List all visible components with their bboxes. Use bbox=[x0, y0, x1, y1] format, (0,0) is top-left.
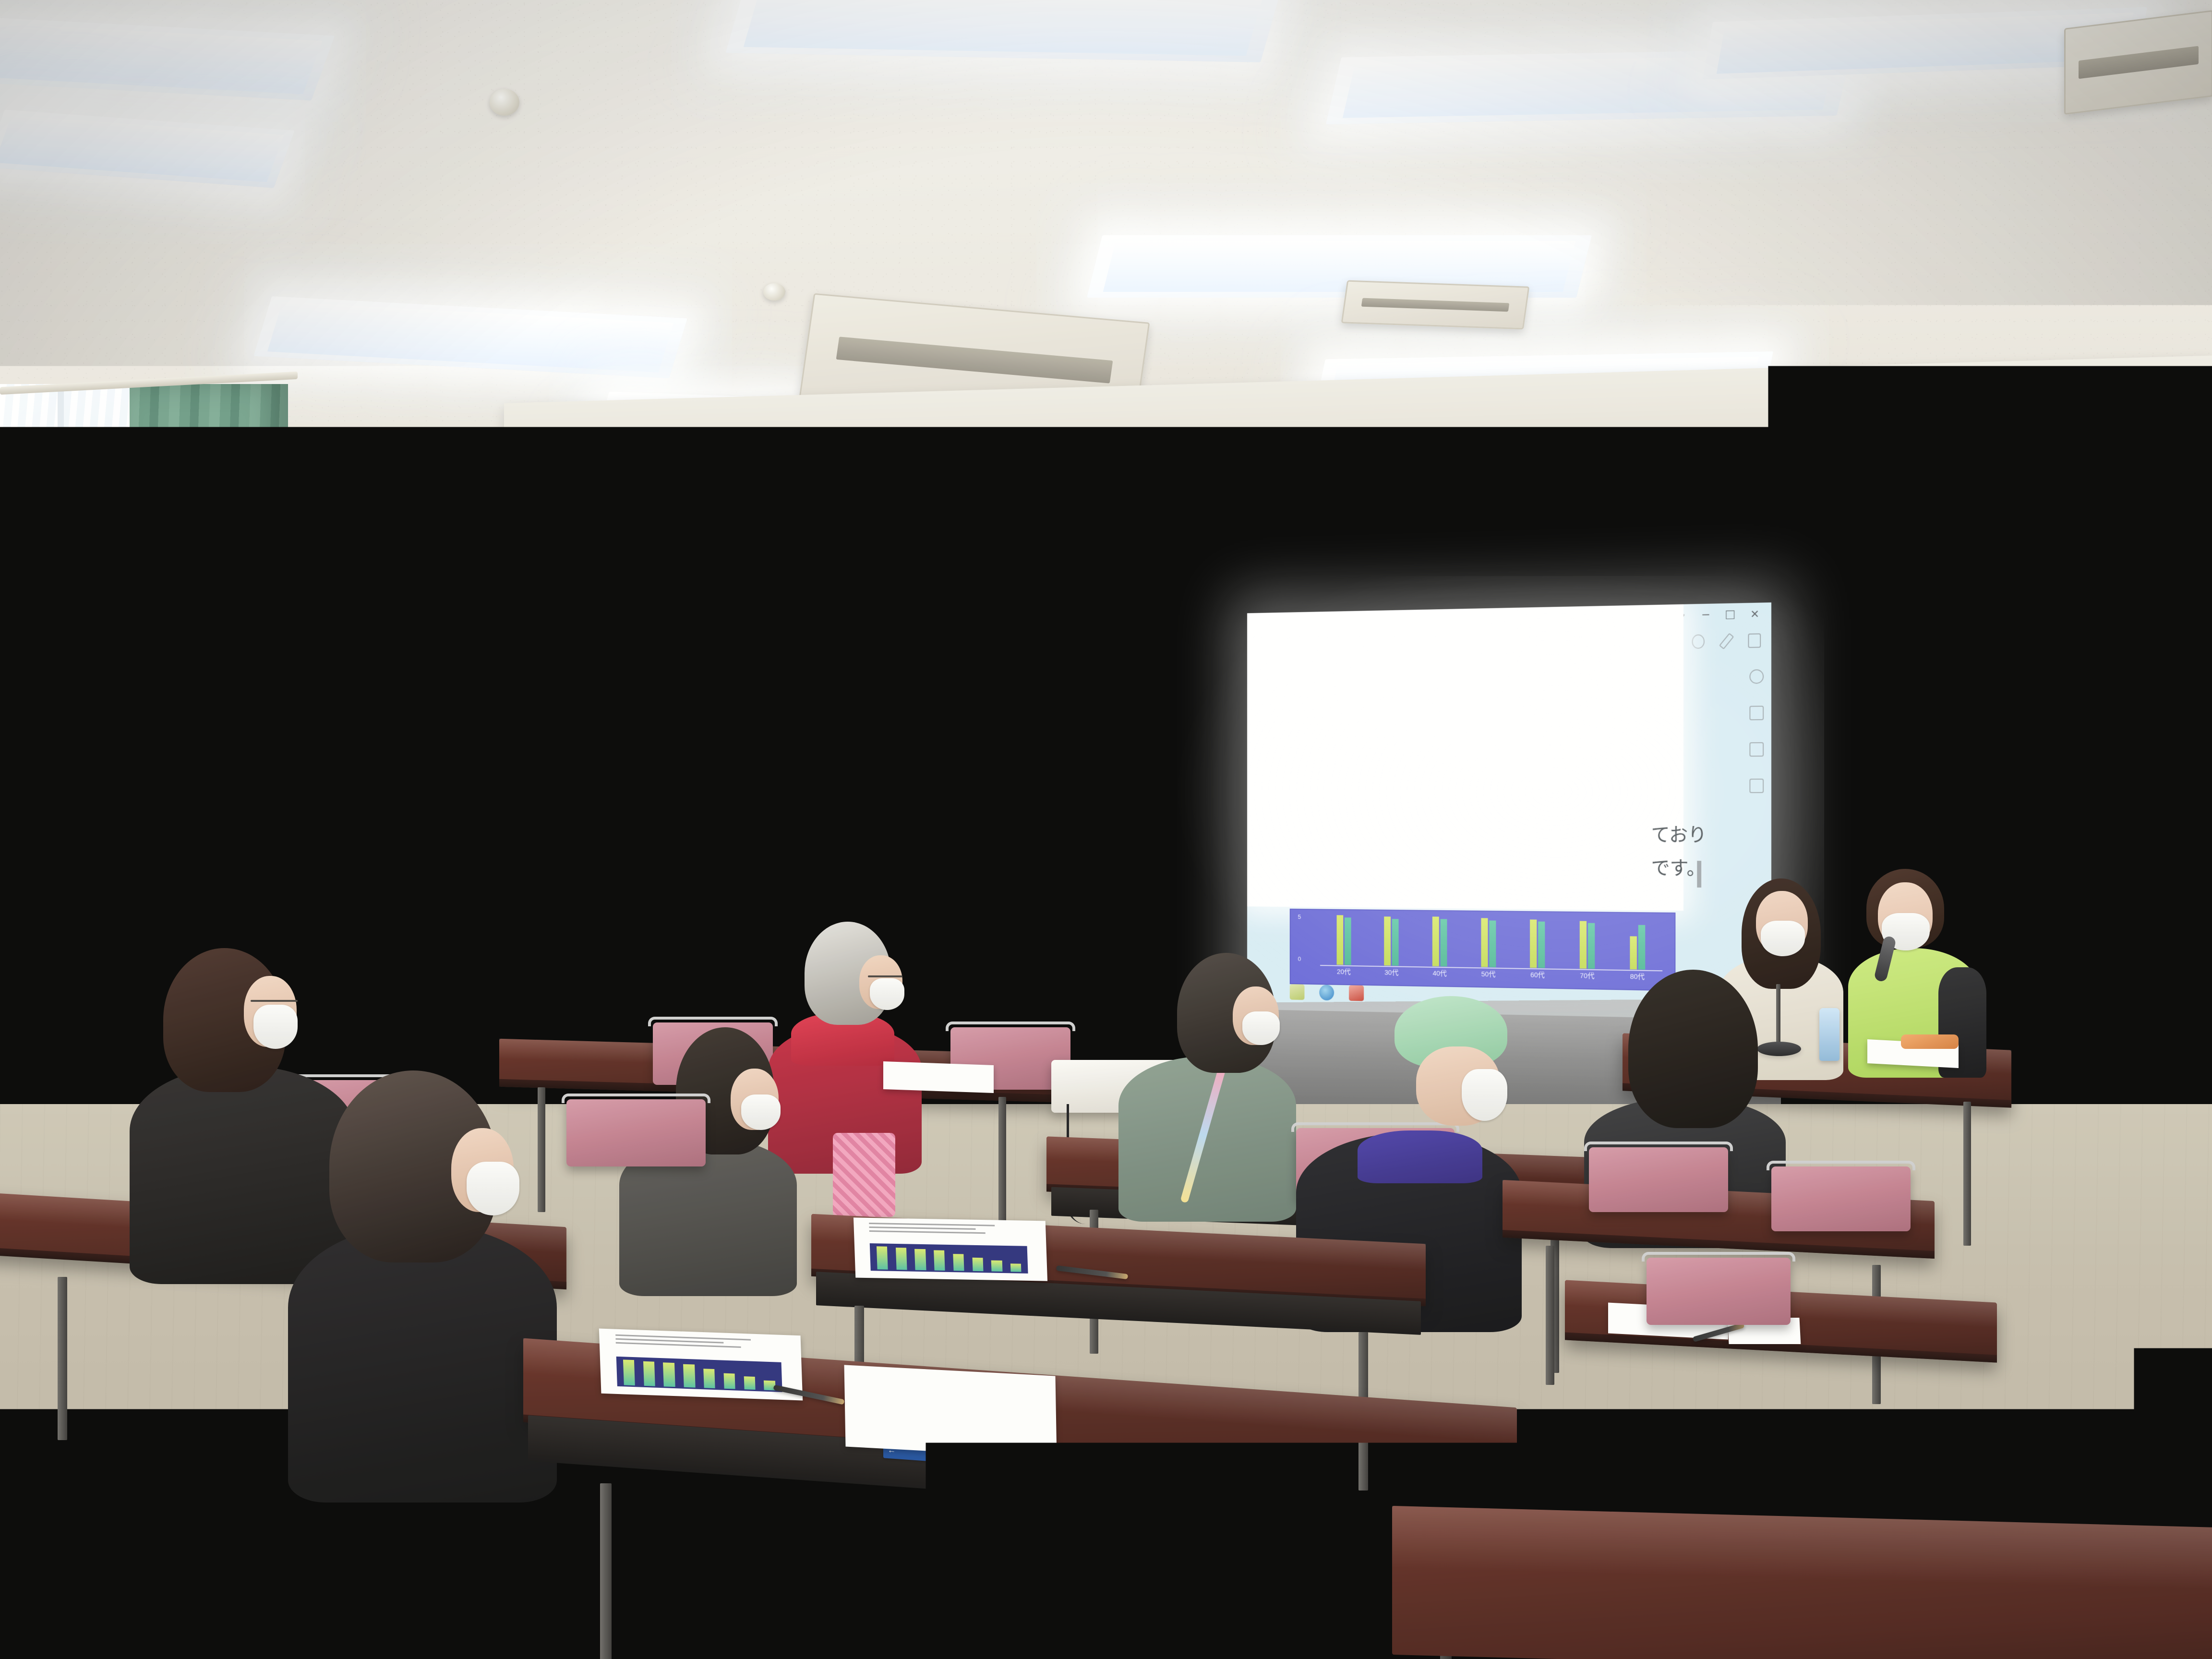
chart-bar-group bbox=[1481, 914, 1496, 967]
pa-speaker bbox=[1049, 794, 1099, 886]
handout-with-chart bbox=[854, 1217, 1047, 1281]
chart-bar-group bbox=[1530, 915, 1545, 968]
chart-xtick-label: 60代 bbox=[1530, 970, 1545, 980]
foreground-table-right bbox=[1392, 1506, 2212, 1659]
attendee-backright-hair bbox=[1628, 970, 1758, 1128]
chart-bar bbox=[1538, 922, 1545, 968]
chart-ytick-bottom: 0 bbox=[1298, 955, 1301, 962]
chair[interactable] bbox=[1771, 1166, 1911, 1231]
handout-text bbox=[615, 1334, 785, 1352]
chart-bar bbox=[1588, 923, 1595, 969]
refresh-icon[interactable] bbox=[1692, 635, 1704, 649]
sheer-curtain bbox=[0, 384, 144, 1008]
projected-application-window: ログイン − □ × ており です。 bbox=[1247, 602, 1771, 1020]
chair[interactable] bbox=[1037, 1455, 1373, 1575]
table-leg bbox=[998, 1097, 1006, 1222]
chart-bar bbox=[1530, 919, 1537, 968]
window-side-toolbar bbox=[1749, 669, 1764, 793]
chart-bar bbox=[1489, 921, 1496, 968]
window-curtain[interactable] bbox=[130, 384, 288, 1022]
table-leg bbox=[1963, 1102, 1971, 1246]
presenter-left-mask bbox=[1761, 921, 1805, 956]
note-icon[interactable] bbox=[1749, 706, 1764, 720]
copy-icon[interactable] bbox=[1749, 742, 1764, 757]
green-crate bbox=[998, 886, 1051, 924]
attendee-cap-scarf bbox=[1358, 1130, 1482, 1183]
chart-bar bbox=[1580, 921, 1587, 969]
wall-hook bbox=[2151, 886, 2177, 938]
poster-body bbox=[445, 760, 477, 801]
chart-ytick-top: 5 bbox=[1298, 914, 1301, 920]
chart-bar bbox=[1432, 917, 1439, 967]
window-mullion bbox=[0, 547, 144, 553]
handout-bar-chart bbox=[616, 1357, 782, 1392]
attendee-red-mask bbox=[870, 978, 904, 1010]
attendee-grey-mask bbox=[741, 1094, 781, 1130]
attendee-fl-mask bbox=[253, 1005, 298, 1049]
smoke-detector-icon bbox=[490, 89, 519, 116]
wall-speaker-left bbox=[533, 569, 614, 631]
chair[interactable] bbox=[1647, 1258, 1791, 1325]
television-screen bbox=[868, 758, 986, 863]
chair[interactable] bbox=[1589, 1147, 1728, 1212]
chart-bar-group bbox=[1336, 913, 1351, 965]
chart-xtick-label: 40代 bbox=[1432, 968, 1446, 978]
chart-plot-area bbox=[1320, 913, 1663, 970]
chart-xtick-label: 30代 bbox=[1384, 967, 1398, 977]
chart-bar-group bbox=[1580, 915, 1595, 969]
window-mullion bbox=[58, 384, 64, 1008]
attendee-red-glasses bbox=[868, 975, 902, 977]
attendee-sage-coat bbox=[1118, 953, 1296, 1222]
chart-bar bbox=[1392, 919, 1399, 966]
wall-poster bbox=[442, 730, 481, 821]
blank-sheet bbox=[844, 1365, 1057, 1457]
attendee-cap-mask bbox=[1462, 1069, 1507, 1121]
chair[interactable] bbox=[566, 1099, 706, 1166]
door-sign: 空調操作盤 bbox=[1123, 691, 1190, 710]
speaker-brand-badge bbox=[2079, 573, 2114, 582]
table-leg bbox=[58, 1277, 67, 1440]
window-mullion bbox=[0, 734, 144, 741]
chart-xtick-label: 50代 bbox=[1481, 969, 1496, 979]
chart-bar-group bbox=[1432, 914, 1447, 967]
ceiling-light-panel bbox=[725, 0, 1281, 62]
close-icon[interactable]: × bbox=[1751, 606, 1759, 622]
air-conditioner-vent bbox=[1341, 280, 1530, 330]
air-conditioner-vent bbox=[2064, 10, 2212, 115]
chart-bar-group bbox=[1630, 916, 1645, 970]
slide-white-area bbox=[1247, 604, 1683, 911]
chart-bar bbox=[1336, 915, 1343, 965]
speaker-brand-badge bbox=[561, 596, 587, 603]
handout-text bbox=[869, 1223, 1031, 1237]
table-leg bbox=[1546, 1246, 1554, 1385]
chart-bar bbox=[1441, 919, 1447, 967]
wall-speaker-right bbox=[2045, 543, 2148, 612]
presenter-items bbox=[1901, 1034, 1959, 1049]
pink-pouch bbox=[833, 1133, 895, 1217]
chart-bar-group bbox=[1384, 914, 1399, 966]
door-sign-label: 空調操作盤 bbox=[1129, 693, 1184, 709]
chart-bar bbox=[1384, 917, 1391, 966]
handout-with-chart bbox=[599, 1329, 803, 1401]
chart-bar bbox=[1345, 917, 1351, 965]
chart-bar bbox=[1630, 937, 1636, 970]
attendee-gh-mask bbox=[467, 1162, 519, 1215]
chart-bar bbox=[1481, 918, 1488, 967]
crt-television bbox=[859, 749, 1003, 883]
speaker-tripod-pole bbox=[1071, 886, 1077, 1044]
share-icon[interactable] bbox=[1749, 779, 1764, 793]
save-icon[interactable] bbox=[1748, 634, 1761, 648]
maximize-icon[interactable]: □ bbox=[1726, 606, 1734, 623]
handout bbox=[883, 1061, 994, 1093]
seminar-room-photo: 空調操作盤 非常時案内 ログイン − □ × bbox=[0, 0, 2212, 1659]
attendee-sage-mask bbox=[1242, 1011, 1280, 1045]
attendee-sage-torso bbox=[1118, 1056, 1296, 1222]
pencil-icon[interactable] bbox=[1719, 633, 1734, 649]
comment-icon[interactable] bbox=[1749, 669, 1764, 684]
attendee-fl-glasses bbox=[251, 1000, 298, 1002]
water-bottle bbox=[1819, 1008, 1839, 1061]
poster-header bbox=[443, 731, 480, 750]
slide-text-line-1: ており bbox=[1651, 819, 1707, 847]
text-caret bbox=[1697, 861, 1702, 888]
handout-bar-chart bbox=[870, 1243, 1028, 1274]
minimize-icon[interactable]: − bbox=[1702, 607, 1710, 624]
sprinkler-head-icon bbox=[763, 283, 785, 301]
chart-bar bbox=[1638, 925, 1645, 970]
chart-xtick-label: 20代 bbox=[1337, 966, 1351, 976]
projection-screen: ログイン − □ × ており です。 bbox=[1247, 602, 1771, 1020]
